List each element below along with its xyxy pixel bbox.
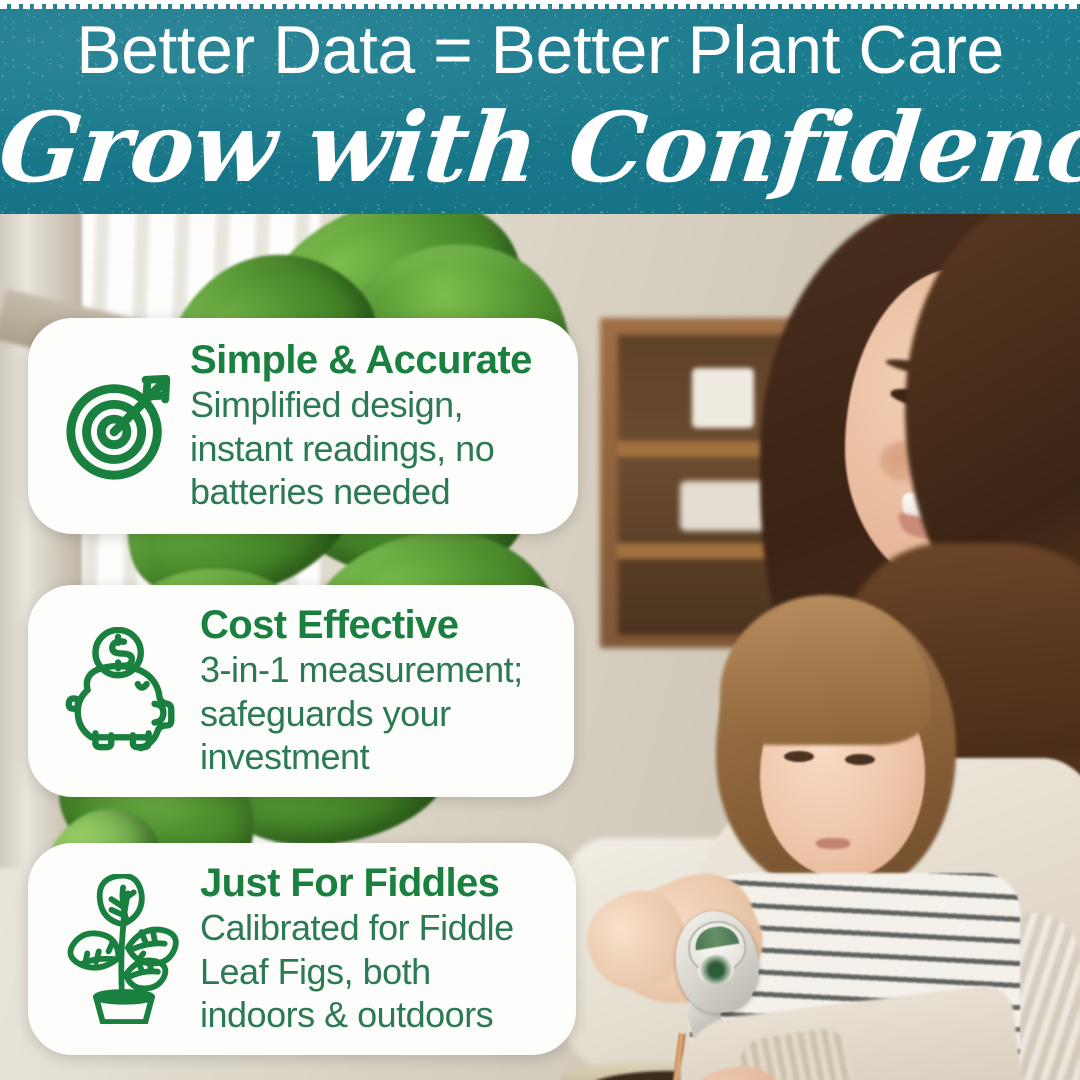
child-mouth (816, 838, 850, 849)
card-body-line: Calibrated for Fiddle (200, 906, 558, 949)
card-title: Cost Effective (200, 604, 556, 646)
shelf-pot (692, 368, 754, 428)
card-text-block: Simple & Accurate Simplified design, ins… (190, 339, 560, 513)
banner-script-tagline: Grow with Confidence (0, 100, 1080, 196)
shelf-cloth (680, 481, 770, 531)
card-title: Just For Fiddles (200, 862, 558, 904)
card-body-line: investment (200, 735, 556, 778)
target-arrow-icon (50, 351, 190, 501)
feature-card-just-for-fiddles: Just For Fiddles Calibrated for Fiddle L… (28, 843, 576, 1055)
feature-card-cost-effective: Cost Effective 3-in-1 measurement; safeg… (28, 585, 574, 797)
feature-card-simple-accurate: Simple & Accurate Simplified design, ins… (28, 318, 578, 534)
card-title: Simple & Accurate (190, 339, 560, 381)
banner-headline: Better Data = Better Plant Care (0, 16, 1080, 84)
card-body-line: instant readings, no (190, 427, 560, 470)
piggy-bank-coin-icon (50, 616, 200, 766)
card-body-line: safeguards your (200, 692, 556, 735)
card-text-block: Just For Fiddles Calibrated for Fiddle L… (200, 862, 558, 1036)
card-body-line: Simplified design, (190, 383, 560, 426)
card-body-line: 3-in-1 measurement; (200, 648, 556, 691)
card-body-line: Leaf Figs, both (200, 950, 558, 993)
potted-plant-icon (50, 864, 200, 1034)
card-body: 3-in-1 measurement; safeguards your inve… (200, 648, 556, 778)
header-banner: Better Data = Better Plant Care Grow wit… (0, 4, 1080, 214)
child-eye-left (784, 751, 814, 762)
child-eye-right (845, 754, 875, 765)
card-text-block: Cost Effective 3-in-1 measurement; safeg… (200, 604, 556, 778)
card-body: Calibrated for Fiddle Leaf Figs, both in… (200, 906, 558, 1036)
card-body-line: indoors & outdoors (200, 993, 558, 1036)
product-infographic: Better Data = Better Plant Care Grow wit… (0, 0, 1080, 1080)
card-body: Simplified design, instant readings, no … (190, 383, 560, 513)
card-body-line: batteries needed (190, 470, 560, 513)
banner-top-torn-edge (0, 0, 1080, 9)
